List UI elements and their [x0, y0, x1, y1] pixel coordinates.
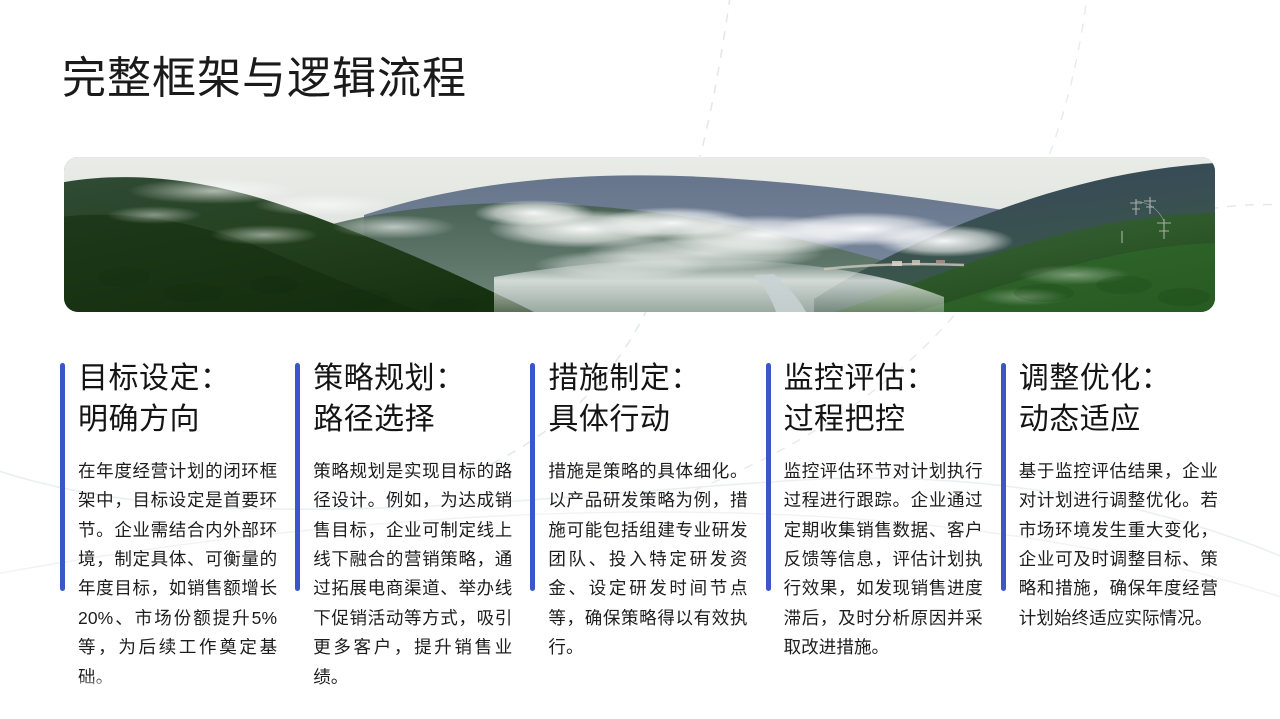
step-columns: 目标设定： 明确方向 在年度经营计划的闭环框架中，目标设定是首要环节。企业需结合…: [56, 358, 1232, 713]
column-body: 措施是策略的具体细化。以产品研发策略为例，措施可能包括组建专业研发团队、投入特定…: [548, 457, 747, 663]
column-heading: 策略规划： 路径选择: [313, 358, 512, 441]
column-measure-formulation: 措施制定： 具体行动 措施是策略的具体细化。以产品研发策略为例，措施可能包括组建…: [526, 358, 761, 713]
column-body: 策略规划是实现目标的路径设计。例如，为达成销售目标，企业可制定线上线下融合的营销…: [313, 457, 512, 692]
column-body: 监控评估环节对计划执行过程进行跟踪。企业通过定期收集销售数据、客户反馈等信息，评…: [784, 457, 983, 663]
slide-canvas: 完整框架与逻辑流程: [0, 0, 1280, 719]
column-monitoring-evaluation: 监控评估： 过程把控 监控评估环节对计划执行过程进行跟踪。企业通过定期收集销售数…: [762, 358, 997, 713]
hero-banner-image: [64, 157, 1215, 312]
column-body: 基于监控评估结果，企业对计划进行调整优化。若市场环境发生重大变化，企业可及时调整…: [1019, 457, 1218, 633]
accent-bar: [766, 363, 771, 591]
column-heading: 调整优化： 动态适应: [1019, 358, 1218, 441]
column-adjustment-optimization: 调整优化： 动态适应 基于监控评估结果，企业对计划进行调整优化。若市场环境发生重…: [997, 358, 1232, 713]
column-heading: 监控评估： 过程把控: [784, 358, 983, 441]
column-body: 在年度经营计划的闭环框架中，目标设定是首要环节。企业需结合内外部环境，制定具体、…: [78, 457, 277, 692]
column-goal-setting: 目标设定： 明确方向 在年度经营计划的闭环框架中，目标设定是首要环节。企业需结合…: [56, 358, 291, 713]
accent-bar: [1001, 363, 1006, 591]
accent-bar: [295, 363, 300, 591]
column-heading: 措施制定： 具体行动: [548, 358, 747, 441]
accent-bar: [530, 363, 535, 591]
accent-bar: [60, 363, 65, 591]
column-heading: 目标设定： 明确方向: [78, 358, 277, 441]
column-strategy-planning: 策略规划： 路径选择 策略规划是实现目标的路径设计。例如，为达成销售目标，企业可…: [291, 358, 526, 713]
page-title: 完整框架与逻辑流程: [62, 54, 467, 105]
